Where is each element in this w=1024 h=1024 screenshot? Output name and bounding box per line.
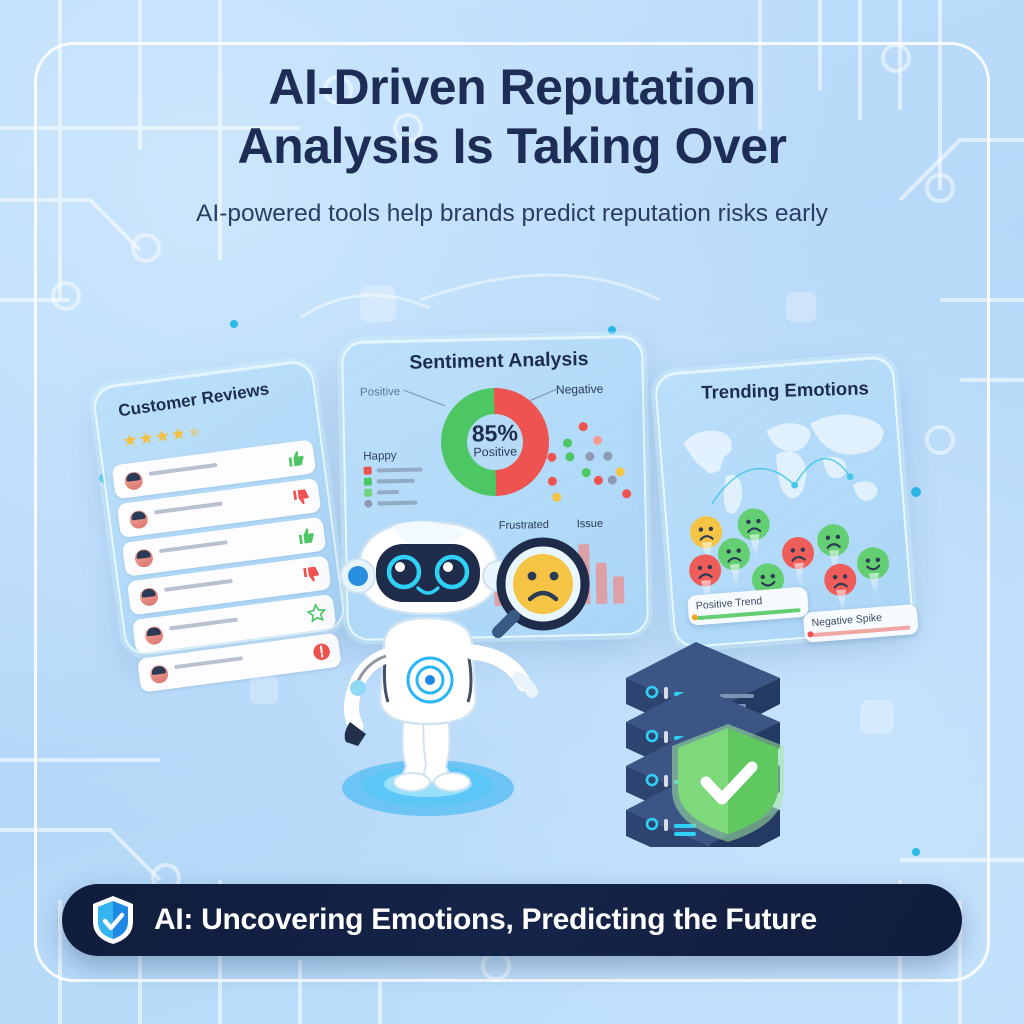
scatter-dot	[608, 475, 617, 484]
robot-right-arm	[472, 652, 532, 692]
legend-heading: Happy	[363, 450, 422, 463]
title-line-1: AI-Driven Reputation	[268, 59, 755, 115]
bar	[613, 577, 625, 604]
avatar	[123, 470, 145, 492]
review-text	[163, 567, 289, 591]
avatar	[143, 624, 165, 646]
emotion-pin-sad-red-3[interactable]	[823, 563, 857, 597]
trending-emotions-panel[interactable]: Trending Emotions	[654, 355, 915, 649]
legend-item	[364, 488, 423, 497]
review-text	[169, 606, 295, 630]
ai-robot-mascot[interactable]	[300, 500, 590, 830]
title-line-2: Analysis Is Taking Over	[90, 117, 934, 176]
donut-label-positive: Positive	[360, 386, 401, 399]
scatter-dot	[563, 438, 572, 447]
bar	[596, 562, 608, 604]
emotion-pin-sad-green-3[interactable]	[816, 523, 850, 557]
avatar	[148, 663, 170, 685]
banner-text: AI: Uncovering Emotions, Predicting the …	[154, 903, 817, 937]
scatter-dot	[565, 452, 574, 461]
donut-center-sublabel: Positive	[441, 444, 549, 460]
scatter-dot	[622, 489, 631, 498]
scatter-dot	[582, 468, 591, 477]
server-rack-icon[interactable]	[612, 632, 802, 847]
emotion-pin-happy-green-2[interactable]	[856, 546, 890, 580]
poster-canvas: AI-Driven Reputation Analysis Is Taking …	[0, 0, 1024, 1024]
scatter-dot	[603, 452, 612, 461]
scatter-dot	[616, 467, 625, 476]
emotion-pin-happy-green[interactable]	[751, 562, 785, 596]
legend-item	[364, 477, 423, 486]
avatar	[128, 508, 150, 530]
scatter-dot	[579, 422, 588, 431]
sentiment-panel-title: Sentiment Analysis	[409, 348, 589, 375]
robot-torso	[380, 618, 476, 724]
scatter-dot	[594, 476, 603, 485]
bottom-banner[interactable]: AI: Uncovering Emotions, Predicting the …	[62, 884, 962, 956]
review-text	[148, 451, 274, 475]
legend-item	[364, 466, 423, 475]
robot-legs	[394, 714, 470, 791]
emotion-pin-sad-red[interactable]	[688, 553, 722, 587]
leader-line-positive	[403, 390, 444, 407]
header: AI-Driven Reputation Analysis Is Taking …	[0, 58, 1024, 228]
thumbs-up-icon[interactable]	[284, 446, 309, 471]
emotions-panel-title: Trending Emotions	[701, 377, 869, 403]
reviews-panel-title: Customer Reviews	[117, 379, 270, 421]
avatar	[133, 547, 155, 569]
page-title: AI-Driven Reputation Analysis Is Taking …	[0, 58, 1024, 176]
avatar	[138, 586, 160, 608]
connection-arcs	[669, 398, 898, 535]
scatter-dot	[548, 477, 557, 486]
page-subtitle: AI-powered tools help brands predict rep…	[0, 200, 1024, 228]
shield-check-icon	[90, 894, 136, 946]
scatter-dot	[593, 436, 602, 445]
scatter-dot	[585, 452, 594, 461]
review-text	[153, 490, 279, 514]
donut-label-negative: Negative	[556, 382, 604, 397]
negative-spike-card[interactable]: Negative Spike	[803, 604, 919, 643]
magnifying-glass-icon[interactable]	[498, 542, 585, 632]
emotion-pin-sad-green-2[interactable]	[717, 537, 751, 571]
robot-head	[341, 521, 513, 614]
review-text	[174, 645, 300, 669]
sentiment-scatter-plot	[545, 415, 639, 501]
emotion-pin-sad-red-2[interactable]	[781, 536, 815, 570]
review-text	[158, 529, 284, 553]
